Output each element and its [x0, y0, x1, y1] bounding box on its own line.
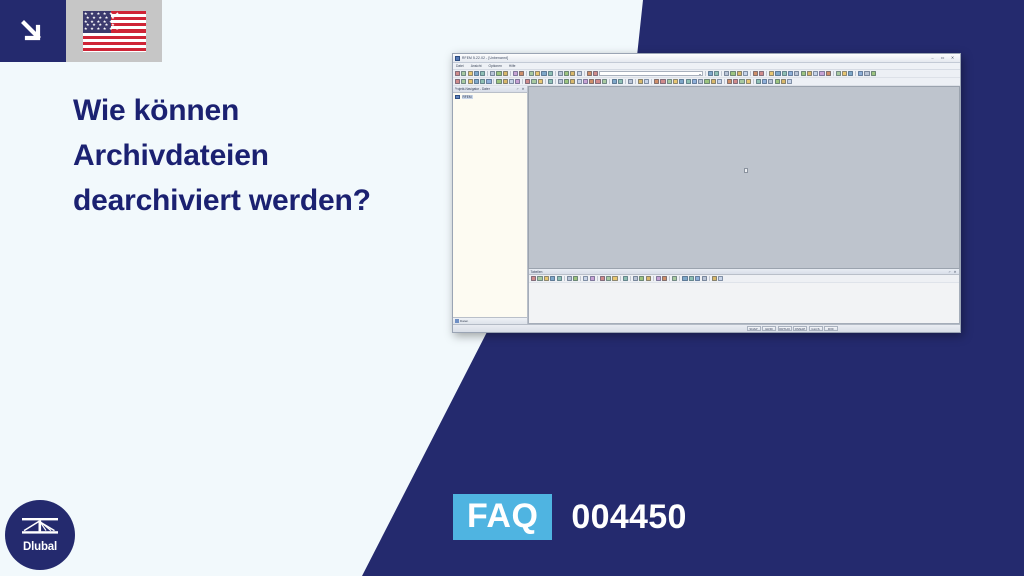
rect-icon[interactable] [558, 79, 563, 84]
toolbar-separator [750, 71, 751, 77]
design-icon[interactable] [781, 79, 786, 84]
excel-icon[interactable] [656, 276, 661, 281]
dropdown-icon[interactable] [618, 79, 623, 84]
node-icon[interactable] [769, 71, 774, 76]
cut-icon[interactable] [490, 71, 495, 76]
headline-line-2: Archivdateien [73, 133, 443, 178]
workplane-icon[interactable] [644, 79, 649, 84]
load-case-icon[interactable] [756, 79, 761, 84]
save-icon[interactable] [468, 71, 473, 76]
prev-icon[interactable] [639, 276, 644, 281]
bold-icon[interactable] [724, 71, 729, 76]
view-table-icon[interactable] [702, 276, 707, 281]
model-canvas[interactable] [528, 86, 960, 269]
next-icon[interactable] [714, 71, 719, 76]
toolbar-separator [526, 71, 527, 77]
select-window-icon[interactable] [461, 79, 466, 84]
flag-stars: ★ ★ ★ ★ ★ ★ ★ ★ ★ ★ ★ ★ ★ ★ ★ ★ ★ ★ ★ ★ … [83, 11, 111, 33]
status-bar[interactable]: SNAPGRIDORTHOOSNAPGLCSDXF [453, 324, 960, 332]
dlubal-logo[interactable]: Dlubal [5, 500, 75, 570]
toolbar-separator [679, 276, 680, 282]
plane-icon[interactable] [638, 79, 643, 84]
mesh-icon[interactable] [612, 79, 617, 84]
toolbar-separator [493, 79, 494, 85]
circle-icon[interactable] [570, 79, 575, 84]
settings-table-icon[interactable] [689, 276, 694, 281]
toolbar-separator [625, 79, 626, 85]
menu-item-datei[interactable]: Datei [456, 64, 464, 68]
navigator-tree[interactable]: RFEM [453, 93, 527, 317]
truss-frame-icon [21, 517, 59, 539]
toolbar-separator [584, 71, 585, 77]
polygon-icon[interactable] [564, 79, 569, 84]
col-width-icon[interactable] [612, 276, 617, 281]
word-icon[interactable] [662, 276, 667, 281]
prev-icon[interactable] [708, 71, 713, 76]
close-icon[interactable]: ✕ [949, 56, 956, 61]
next-icon[interactable] [646, 276, 651, 281]
toolbar-separator [545, 79, 546, 85]
status-toggle[interactable]: GRID [762, 326, 776, 332]
snap-center-icon[interactable] [673, 79, 678, 84]
toolbar-separator [721, 71, 722, 77]
toolbar-separator [855, 71, 856, 77]
snap-point-icon[interactable] [654, 79, 659, 84]
toolbar-separator [522, 79, 523, 85]
window-title: RFEM 5.22.02 - [Unbenannt] [462, 56, 929, 60]
line-icon[interactable] [775, 71, 780, 76]
snap-nearest-icon[interactable] [698, 79, 703, 84]
rotate-icon[interactable] [593, 71, 598, 76]
print-preview-icon[interactable] [858, 71, 863, 76]
toolbar-separator [833, 71, 834, 77]
status-toggle[interactable]: DXF [824, 326, 838, 332]
toolbar-combobox[interactable] [599, 71, 703, 77]
select-all-icon[interactable] [474, 79, 479, 84]
toolbar-separator [609, 79, 610, 85]
goto-icon[interactable] [623, 276, 628, 281]
settings-icon[interactable] [628, 79, 633, 84]
results-icon[interactable] [737, 71, 742, 76]
grid-icon[interactable] [753, 71, 758, 76]
toolbar-separator [597, 276, 598, 282]
tables-panel[interactable]: Tabellen ⌐ ✕ [528, 269, 960, 324]
col-right-icon[interactable] [606, 276, 611, 281]
table-save-icon[interactable] [544, 276, 549, 281]
usa-flag-icon: ★ ★ ★ ★ ★ ★ ★ ★ ★ ★ ★ ★ ★ ★ ★ ★ ★ ★ ★ ★ … [83, 11, 146, 52]
toolbar-separator [705, 71, 706, 77]
row-add-icon[interactable] [567, 276, 572, 281]
toolbar-separator [620, 276, 621, 282]
arrow-icon[interactable] [531, 79, 536, 84]
navigator-title: Projekt-Navigator - Daten [455, 87, 491, 91]
distance-icon[interactable] [509, 79, 514, 84]
dimension-icon[interactable] [496, 79, 501, 84]
toolbar-separator [630, 276, 631, 282]
status-toggle[interactable]: OSNAP [793, 326, 807, 332]
calc-table-icon[interactable] [672, 276, 677, 281]
toolbar-secondary[interactable] [453, 78, 960, 86]
menu-item-hilfe[interactable]: Hilfe [509, 64, 516, 68]
ellipse-icon[interactable] [589, 79, 594, 84]
col-left-icon[interactable] [600, 276, 605, 281]
spline-icon[interactable] [583, 79, 588, 84]
data-icon [455, 319, 459, 323]
faq-number: 004450 [571, 499, 686, 535]
redo-icon[interactable] [519, 71, 524, 76]
coordinate-icon[interactable] [515, 79, 520, 84]
copy-icon[interactable] [496, 71, 501, 76]
guide-icon[interactable] [538, 79, 543, 84]
result-combo-icon[interactable] [768, 79, 773, 84]
snap-mid-icon[interactable] [660, 79, 665, 84]
layout-icon[interactable] [695, 276, 700, 281]
toolbar-primary[interactable] [453, 70, 960, 78]
filter-icon[interactable] [583, 276, 588, 281]
help-icon[interactable] [871, 71, 876, 76]
toolbar-separator [487, 71, 488, 77]
units-icon[interactable] [682, 276, 687, 281]
navigator-header: Projekt-Navigator - Daten ⌐ ✕ [453, 86, 527, 93]
tree-item-label: RFEM [462, 95, 473, 99]
paste-icon[interactable] [503, 71, 508, 76]
tables-toolbar[interactable] [529, 275, 959, 283]
toolbar-separator [635, 79, 636, 85]
report-icon[interactable] [787, 79, 792, 84]
layer-icon[interactable] [548, 79, 553, 84]
text-icon[interactable] [525, 79, 530, 84]
status-bar-toggles[interactable]: SNAPGRIDORTHOOSNAPGLCSDXF [747, 326, 839, 332]
status-toggle[interactable]: GLCS [809, 326, 823, 332]
tables-grid-area[interactable] [529, 283, 959, 323]
arrow-down-right-icon [18, 16, 48, 46]
headline-line-3: dearchiviert werden? [73, 178, 443, 223]
snap-intersect-icon[interactable] [679, 79, 684, 84]
menu-item-optionen[interactable]: Optionen [489, 64, 502, 68]
deselect-icon[interactable] [480, 79, 485, 84]
row-del-icon[interactable] [573, 276, 578, 281]
toolbar-separator [555, 79, 556, 85]
first-icon[interactable] [633, 276, 638, 281]
table-new-icon[interactable] [531, 276, 536, 281]
surface-icon[interactable] [788, 71, 793, 76]
table-open-icon[interactable] [537, 276, 542, 281]
load-combo-icon[interactable] [762, 79, 767, 84]
project-navigator-panel[interactable]: Projekt-Navigator - Daten ⌐ ✕ RFEM Daten [453, 86, 528, 324]
logo-brand-text: Dlubal [23, 541, 57, 553]
tables-header-buttons[interactable]: ⌐ ✕ [949, 270, 958, 274]
toolbar-separator [564, 276, 565, 282]
new-file-icon[interactable] [455, 71, 460, 76]
toolbar-separator [669, 276, 670, 282]
zoom-out-icon[interactable] [535, 71, 540, 76]
sort-icon[interactable] [590, 276, 595, 281]
table-delete-icon[interactable] [557, 276, 562, 281]
parabola-icon[interactable] [602, 79, 607, 84]
workspace: Projekt-Navigator - Daten ⌐ ✕ RFEM Daten [453, 86, 960, 324]
toolbar-separator [653, 276, 654, 282]
download-arrow-box [0, 0, 66, 62]
menu-item-ansicht[interactable]: Ansicht [471, 64, 482, 68]
section-icon[interactable] [819, 71, 824, 76]
window-controls[interactable]: – ▭ ✕ [929, 56, 958, 61]
delete-icon[interactable] [836, 71, 841, 76]
menu-bar[interactable]: Datei Ansicht Optionen Hilfe [453, 63, 960, 70]
hinge-icon[interactable] [813, 71, 818, 76]
zoom-in-icon[interactable] [529, 71, 534, 76]
toolbar-separator [510, 71, 511, 77]
view-iso-icon[interactable] [746, 79, 751, 84]
table-print-icon[interactable] [550, 276, 555, 281]
material-icon[interactable] [826, 71, 831, 76]
navigator-footer-tab[interactable]: Daten [453, 317, 527, 324]
calc-icon[interactable] [730, 71, 735, 76]
select-line-icon[interactable] [468, 79, 473, 84]
snap-tangent-icon[interactable] [692, 79, 697, 84]
model-icon [455, 95, 460, 99]
crosshair-cursor-icon [744, 168, 748, 173]
solid-body-icon[interactable] [794, 71, 799, 76]
invert-select-icon[interactable] [486, 79, 491, 84]
faq-card: ★ ★ ★ ★ ★ ★ ★ ★ ★ ★ ★ ★ ★ ★ ★ ★ ★ ★ ★ ★ … [0, 0, 1024, 576]
toolbar-separator [555, 71, 556, 77]
view-cube-icon[interactable] [587, 71, 592, 76]
snap-perp-icon[interactable] [686, 79, 691, 84]
page-title: Wie können Archivdateien dearchiviert we… [73, 88, 443, 223]
rfem-application-window[interactable]: RFEM 5.22.02 - [Unbenannt] – ▭ ✕ Datei A… [452, 53, 961, 333]
status-toggle[interactable]: SNAP [747, 326, 761, 332]
snap-grid-icon[interactable] [704, 79, 709, 84]
info-icon[interactable] [848, 71, 853, 76]
print-icon[interactable] [480, 71, 485, 76]
window-titlebar[interactable]: RFEM 5.22.02 - [Unbenannt] – ▭ ✕ [453, 54, 960, 63]
language-badge[interactable]: ★ ★ ★ ★ ★ ★ ★ ★ ★ ★ ★ ★ ★ ★ ★ ★ ★ ★ ★ ★ … [0, 0, 162, 62]
member-icon[interactable] [782, 71, 787, 76]
nurbs-icon[interactable] [595, 79, 600, 84]
navigator-footer-label: Daten [460, 319, 468, 323]
result-class-icon[interactable] [775, 79, 780, 84]
snap-node-icon[interactable] [711, 79, 716, 84]
navigator-header-buttons[interactable]: ⌐ ✕ [517, 87, 526, 91]
snap-extension-icon[interactable] [717, 79, 722, 84]
angle-icon[interactable] [503, 79, 508, 84]
flag-box: ★ ★ ★ ★ ★ ★ ★ ★ ★ ★ ★ ★ ★ ★ ★ ★ ★ ★ ★ ★ … [66, 0, 162, 62]
headline-line-1: Wie können [73, 88, 443, 133]
toolbar-separator [766, 71, 767, 77]
undo-icon[interactable] [513, 71, 518, 76]
tables-title: Tabellen [531, 270, 543, 274]
toolbar-separator [651, 79, 652, 85]
maximize-icon[interactable]: ▭ [939, 56, 946, 61]
load-icon[interactable] [807, 71, 812, 76]
pan-icon[interactable] [548, 71, 553, 76]
solid-icon[interactable] [570, 71, 575, 76]
export-icon[interactable] [864, 71, 869, 76]
minimize-icon[interactable]: – [929, 56, 936, 61]
arc-icon[interactable] [577, 79, 582, 84]
support-icon[interactable] [801, 71, 806, 76]
open-folder-icon[interactable] [461, 71, 466, 76]
deform-icon[interactable] [743, 71, 748, 76]
faq-tag-label: FAQ [453, 494, 552, 540]
zoom-window-icon[interactable] [541, 71, 546, 76]
faq-badge: FAQ 004450 [453, 494, 687, 540]
edit-icon[interactable] [712, 276, 717, 281]
shade-icon[interactable] [577, 71, 582, 76]
check-icon[interactable] [842, 71, 847, 76]
view-side-icon[interactable] [739, 79, 744, 84]
save-all-icon[interactable] [474, 71, 479, 76]
select-icon[interactable] [455, 79, 460, 84]
toolbar-separator [709, 276, 710, 282]
view-front-icon[interactable] [727, 79, 732, 84]
tools-icon[interactable] [718, 276, 723, 281]
view-top-icon[interactable] [733, 79, 738, 84]
snap-end-icon[interactable] [667, 79, 672, 84]
toolbar-separator [580, 276, 581, 282]
render-icon[interactable] [558, 71, 563, 76]
wireframe-icon[interactable] [564, 71, 569, 76]
rfem-app-icon [455, 56, 460, 61]
toolbar-separator [724, 79, 725, 85]
status-toggle[interactable]: ORTHO [778, 326, 792, 332]
snap-icon[interactable] [759, 71, 764, 76]
tree-item[interactable]: RFEM [455, 95, 527, 99]
right-column: Tabellen ⌐ ✕ [528, 86, 960, 324]
toolbar-separator [753, 79, 754, 85]
